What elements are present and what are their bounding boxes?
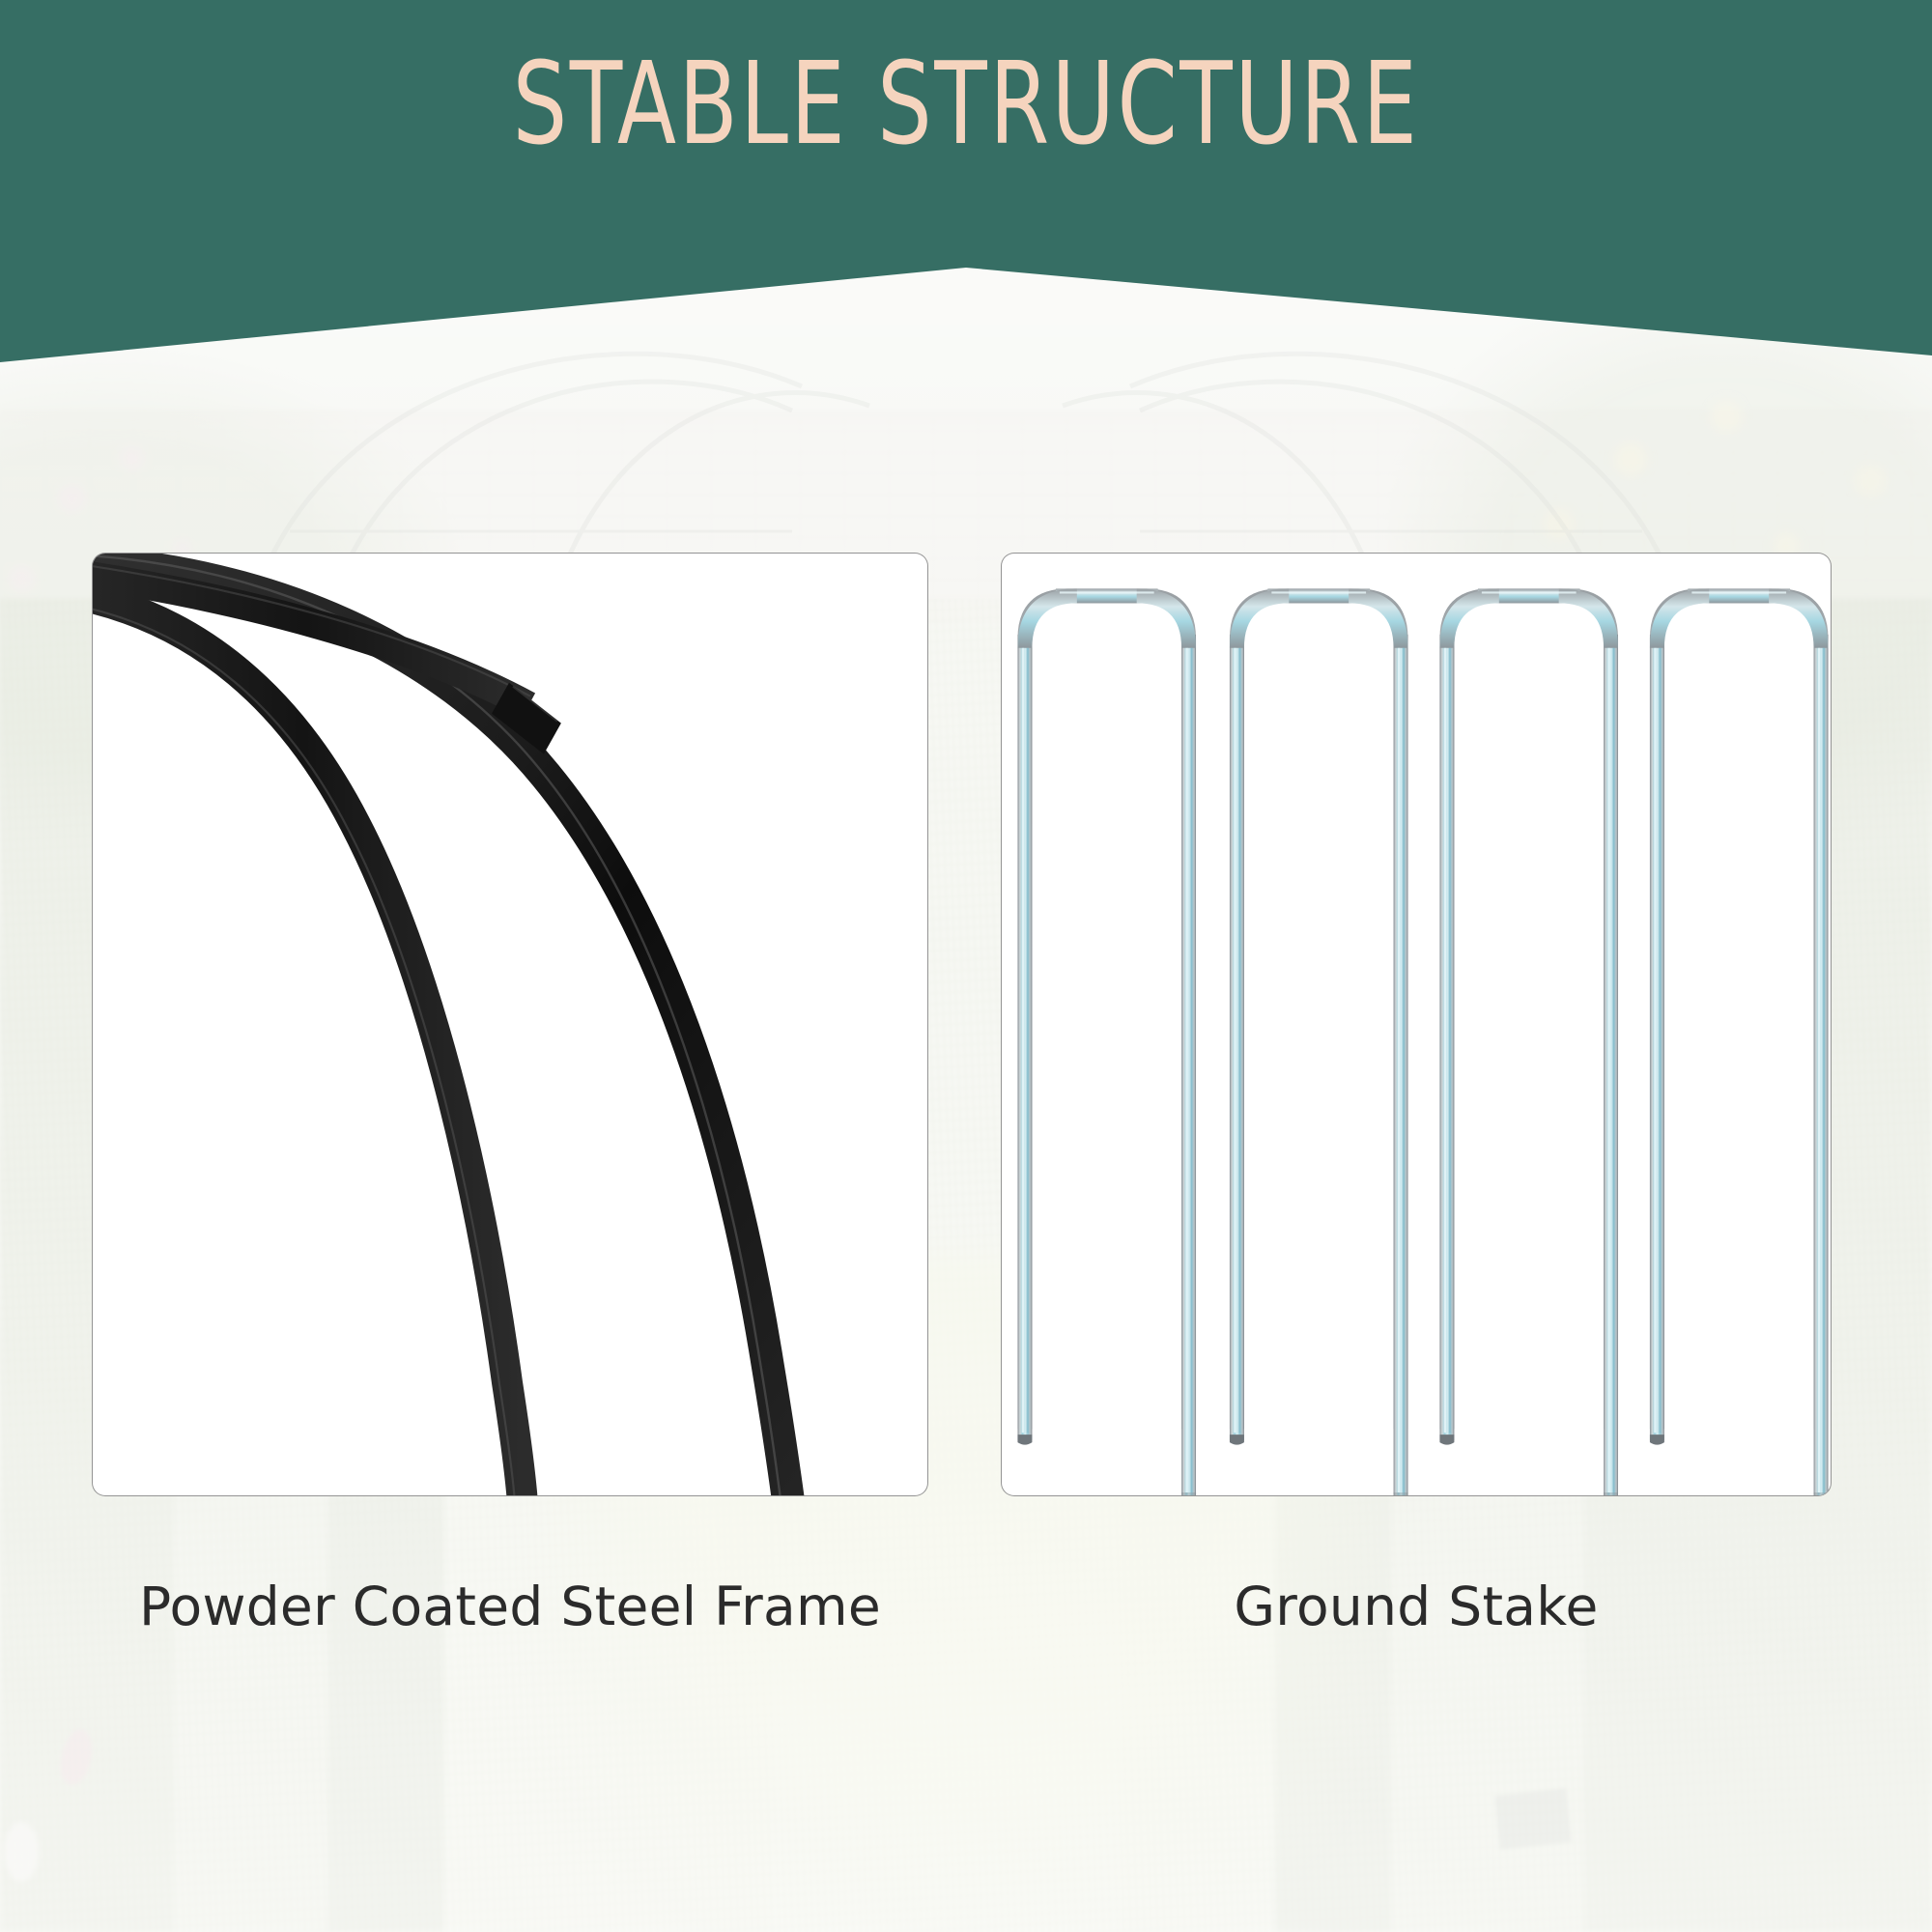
product-feature-graphic: STABLE STRUCTURE bbox=[0, 0, 1932, 1932]
stake-3 bbox=[1439, 588, 1618, 1495]
steel-frame-illustration bbox=[93, 554, 927, 1495]
stake-2 bbox=[1230, 588, 1408, 1495]
stake-4 bbox=[1650, 588, 1829, 1495]
panel-powder-coated-steel-frame bbox=[92, 553, 928, 1496]
panel-ground-stake bbox=[1001, 553, 1832, 1496]
page-title: STABLE STRUCTURE bbox=[155, 44, 1777, 164]
caption-ground-stake: Ground Stake bbox=[1001, 1553, 1832, 1660]
caption-powder-coated-steel-frame: Powder Coated Steel Frame bbox=[92, 1553, 928, 1660]
ground-stake-illustration bbox=[1002, 554, 1831, 1495]
stake-1 bbox=[1017, 588, 1196, 1495]
